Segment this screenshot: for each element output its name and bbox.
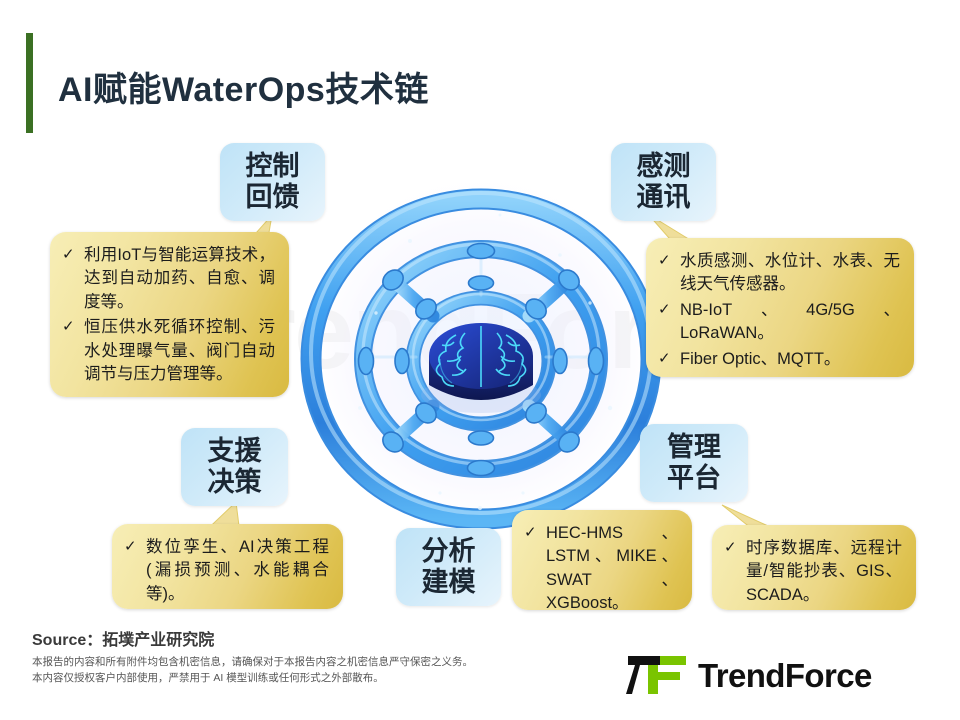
trendforce-logo: TrendForce — [626, 652, 926, 698]
list-item: ✓ 利用IoT与智能运算技术，达到自动加药、自愈、调度等。 — [62, 244, 275, 314]
callout-control: ✓ 利用IoT与智能运算技术，达到自动加药、自愈、调度等。 ✓ 恒压供水死循环控… — [50, 232, 289, 397]
callout-sensing-item-2: Fiber Optic、MQTT。 — [680, 348, 900, 371]
callout-decision-list: ✓ 数位孪生、AI决策工程(漏损预测、水能耦合等)。 — [124, 536, 329, 606]
title-accent-bar — [26, 33, 33, 133]
category-label-decision-line2: 决策 — [208, 467, 262, 498]
list-item: ✓ 恒压供水死循环控制、污水处理曝气量、阀门自动调节与压力管理等。 — [62, 316, 275, 386]
callout-platform-list: ✓ 时序数据库、远程计量/智能抄表、GIS、SCADA。 — [724, 537, 902, 607]
check-icon: ✓ — [658, 299, 680, 320]
category-label-platform[interactable]: 管理 平台 — [640, 424, 748, 502]
callout-analysis: ✓ HEC-HMS、LSTM、MIKE、SWAT、XGBoost。 — [512, 510, 692, 610]
category-label-decision[interactable]: 支援 决策 — [181, 428, 288, 506]
list-item: ✓ NB-IoT、4G/5G、LoRaWAN。 — [658, 299, 900, 346]
check-icon: ✓ — [658, 250, 680, 271]
source-label: Source：拓墣产业研究院 — [32, 626, 214, 650]
list-item: ✓ 水质感测、水位计、水表、无线天气传感器。 — [658, 250, 900, 297]
callout-sensing: ✓ 水质感测、水位计、水表、无线天气传感器。 ✓ NB-IoT、4G/5G、Lo… — [646, 238, 914, 377]
callout-platform-item-0: 时序数据库、远程计量/智能抄表、GIS、SCADA。 — [746, 537, 902, 607]
category-label-platform-line2: 平台 — [667, 463, 721, 494]
list-item: ✓ 数位孪生、AI决策工程(漏损预测、水能耦合等)。 — [124, 536, 329, 606]
check-icon: ✓ — [724, 537, 746, 558]
callout-sensing-item-1: NB-IoT、4G/5G、LoRaWAN。 — [680, 299, 900, 346]
check-icon: ✓ — [62, 244, 84, 265]
category-label-analysis-line1: 分析 — [422, 536, 476, 567]
callout-control-item-0: 利用IoT与智能运算技术，达到自动加药、自愈、调度等。 — [84, 244, 275, 314]
category-label-analysis-line2: 建模 — [422, 567, 476, 598]
trendforce-logo-text: TrendForce — [698, 659, 872, 692]
check-icon: ✓ — [62, 316, 84, 337]
category-label-decision-line1: 支援 — [208, 436, 262, 467]
category-label-sensing-line1: 感测 — [637, 151, 691, 182]
category-label-control[interactable]: 控制 回馈 — [220, 143, 325, 221]
list-item: ✓ HEC-HMS、LSTM、MIKE、SWAT、XGBoost。 — [524, 522, 678, 616]
callout-control-item-1: 恒压供水死循环控制、污水处理曝气量、阀门自动调节与压力管理等。 — [84, 316, 275, 386]
category-label-platform-line1: 管理 — [667, 432, 721, 463]
ai-water-pipe-network-graphic — [290, 163, 672, 541]
disclaimer-line-2: 本内容仅授权客户内部使用，严禁用于 AI 模型训练或任何形式之外部散布。 — [32, 670, 473, 686]
list-item: ✓ Fiber Optic、MQTT。 — [658, 348, 900, 371]
category-label-analysis[interactable]: 分析 建模 — [396, 528, 501, 606]
disclaimer: 本报告的内容和所有附件均包含机密信息，请确保对于本报告内容之机密信息严守保密之义… — [32, 654, 473, 687]
callout-analysis-item-0: HEC-HMS、LSTM、MIKE、SWAT、XGBoost。 — [546, 522, 678, 616]
check-icon: ✓ — [524, 522, 546, 543]
callout-decision: ✓ 数位孪生、AI决策工程(漏损预测、水能耦合等)。 — [112, 524, 343, 609]
page-title: AI赋能WaterOps技术链 — [58, 62, 429, 111]
list-item: ✓ 时序数据库、远程计量/智能抄表、GIS、SCADA。 — [724, 537, 902, 607]
callout-sensing-item-0: 水质感测、水位计、水表、无线天气传感器。 — [680, 250, 900, 297]
check-icon: ✓ — [658, 348, 680, 369]
trendforce-logo-mark — [626, 654, 688, 696]
category-label-sensing[interactable]: 感测 通讯 — [611, 143, 716, 221]
category-label-control-line1: 控制 — [246, 151, 300, 182]
disclaimer-line-1: 本报告的内容和所有附件均包含机密信息，请确保对于本报告内容之机密信息严守保密之义… — [32, 654, 473, 670]
callout-control-list: ✓ 利用IoT与智能运算技术，达到自动加药、自愈、调度等。 ✓ 恒压供水死循环控… — [62, 244, 275, 387]
callout-decision-item-0: 数位孪生、AI决策工程(漏损预测、水能耦合等)。 — [146, 536, 329, 606]
category-label-sensing-line2: 通讯 — [637, 182, 691, 213]
callout-platform: ✓ 时序数据库、远程计量/智能抄表、GIS、SCADA。 — [712, 525, 916, 610]
callout-sensing-list: ✓ 水质感测、水位计、水表、无线天气传感器。 ✓ NB-IoT、4G/5G、Lo… — [658, 250, 900, 371]
category-label-control-line2: 回馈 — [246, 182, 300, 213]
callout-analysis-list: ✓ HEC-HMS、LSTM、MIKE、SWAT、XGBoost。 — [524, 522, 678, 616]
slide-canvas: AI赋能WaterOps技术链 TrendForce — [0, 0, 960, 720]
check-icon: ✓ — [124, 536, 146, 557]
